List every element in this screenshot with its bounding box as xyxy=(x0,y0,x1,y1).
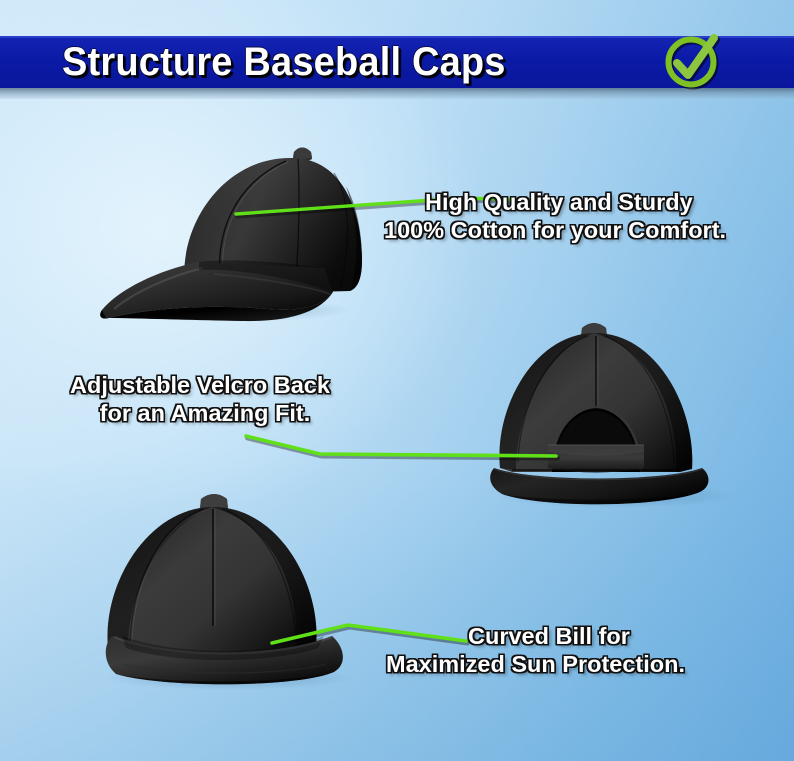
callout-quality: High Quality and Sturdy 100% Cotton for … xyxy=(425,188,726,244)
green-check-circle-icon xyxy=(664,32,726,94)
callout-velcro: Adjustable Velcro Back for an Amazing Fi… xyxy=(70,371,330,427)
callout-velcro-line1: Adjustable Velcro Back xyxy=(70,371,330,399)
page-title: Structure Baseball Caps xyxy=(62,36,506,88)
callout-quality-line1: High Quality and Sturdy xyxy=(425,188,726,216)
cap-front-view xyxy=(82,486,382,691)
callout-bill-line2: Maximized Sun Protection. xyxy=(386,650,685,678)
callout-velcro-line2: for an Amazing Fit. xyxy=(80,399,330,427)
cap-side-view xyxy=(62,128,372,323)
callout-bill: Curved Bill for Maximized Sun Protection… xyxy=(468,622,685,678)
product-infographic: Structure Baseball Caps xyxy=(0,0,794,761)
cap-back-view xyxy=(472,312,762,508)
callout-quality-line2: 100% Cotton for your Comfort. xyxy=(384,216,726,244)
callout-bill-line1: Curved Bill for xyxy=(468,622,685,650)
